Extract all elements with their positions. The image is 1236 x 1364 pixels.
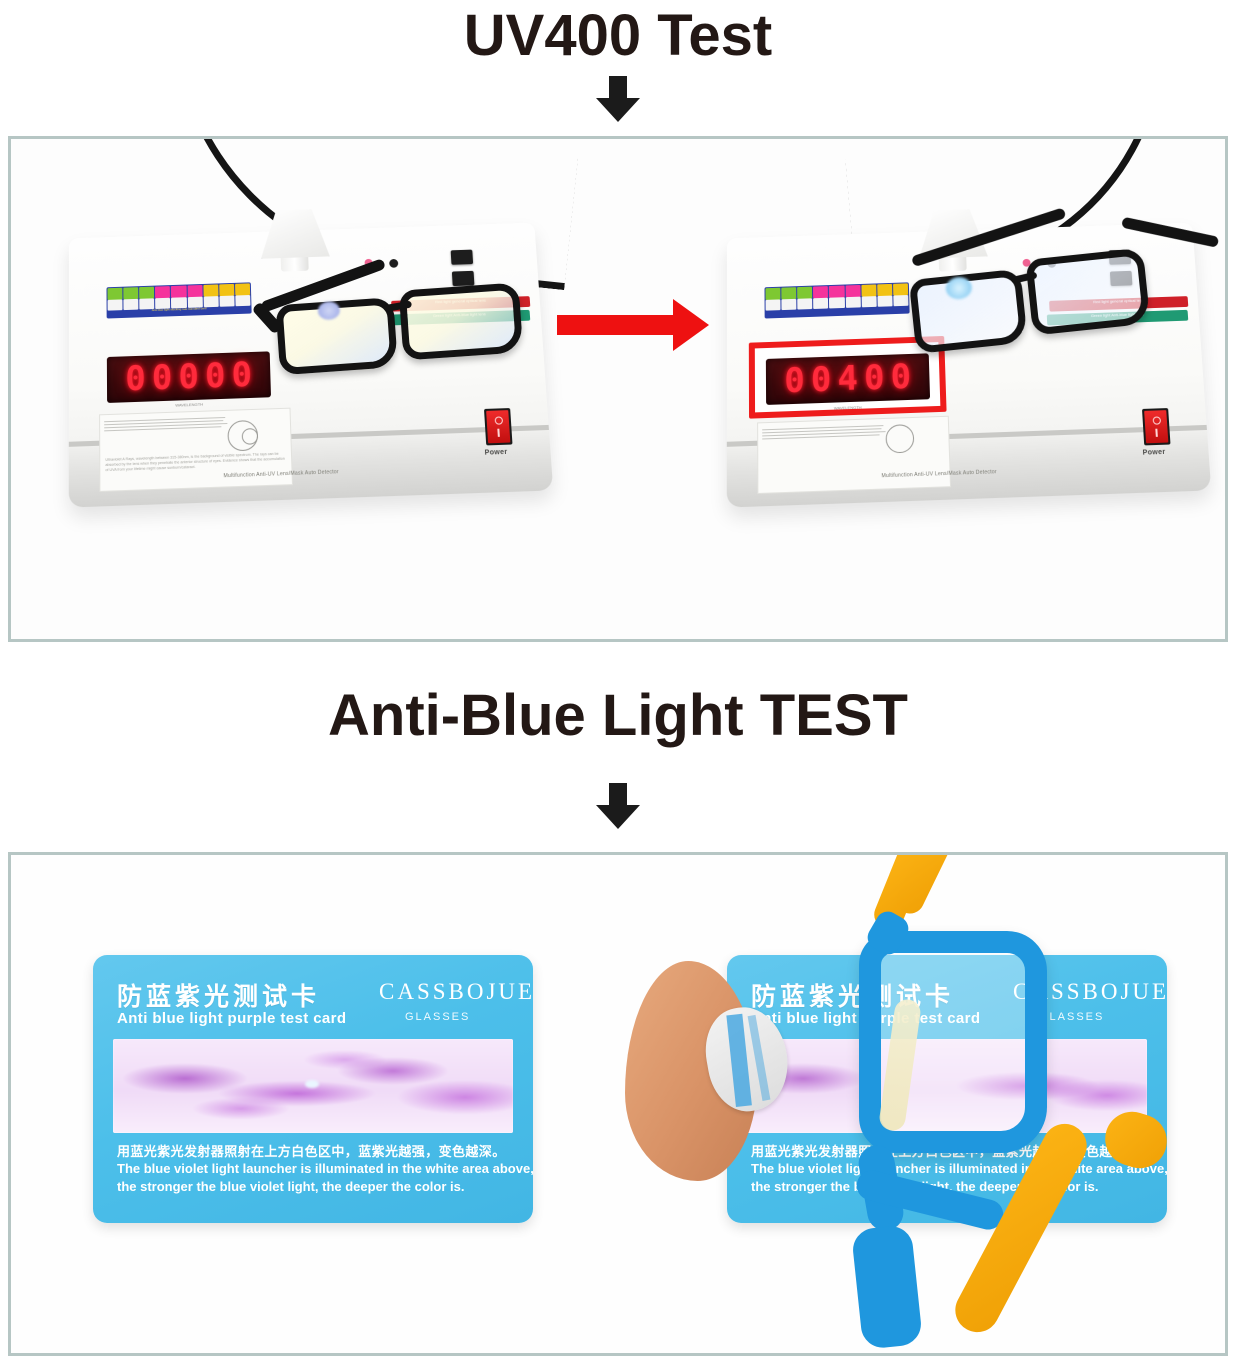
page-title-uv400: UV400 Test xyxy=(0,2,1236,69)
card-footer-cn-left: 用蓝光紫光发射器照射在上方白色区中，蓝紫光越强，变色越深。 xyxy=(117,1141,506,1160)
tape-band xyxy=(726,1014,752,1107)
card-title-cn-left: 防蓝紫光测试卡 xyxy=(117,977,320,1013)
led-digit-3: 0 xyxy=(178,360,199,395)
temple-tip-yellow xyxy=(1098,1105,1174,1176)
lens-right-eye xyxy=(399,282,524,360)
lower-rim-blue-2 xyxy=(851,1224,923,1350)
power-switch-left[interactable] xyxy=(484,408,513,445)
uv-test-scene: Anti blue light blocking rate standard c… xyxy=(11,139,1225,639)
card-footer-en1-left: The blue violet light launcher is illumi… xyxy=(117,1161,533,1176)
card-brand-left: CASSBOJUE xyxy=(379,979,533,1005)
led-digit-1: 0 xyxy=(784,364,805,399)
led-digit-5: 0 xyxy=(231,358,252,393)
led-digit-2: 0 xyxy=(811,363,832,398)
info-placard-right xyxy=(757,416,951,494)
blue-light-test-scene: 防蓝紫光测试卡 Anti blue light purple test card… xyxy=(11,855,1225,1353)
arrow-right-icon xyxy=(557,299,709,351)
mode-button-a-left[interactable] xyxy=(451,250,473,265)
test-card-left: 防蓝紫光测试卡 Anti blue light purple test card… xyxy=(93,955,533,1223)
temple-arm-right xyxy=(1121,217,1219,248)
page-title-anti-blue-light: Anti-Blue Light TEST xyxy=(0,682,1236,749)
led-digit-2: 0 xyxy=(152,361,173,396)
info-placard-left: Ultraviolet A Rays, wavelength between 3… xyxy=(99,408,293,492)
color-standard-strip-left: Anti blue light blocking rate standard c… xyxy=(106,282,251,318)
color-standard-strip-right xyxy=(764,282,909,318)
led-digit-1: 0 xyxy=(125,362,146,397)
test-area-left xyxy=(113,1039,513,1133)
anti-blue-light-test-photo: 防蓝紫光测试卡 Anti blue light purple test card… xyxy=(8,852,1228,1356)
power-label-right: Power xyxy=(1142,449,1165,457)
uv400-test-photo: Anti blue light blocking rate standard c… xyxy=(8,136,1228,642)
arrow-down-icon xyxy=(596,76,640,122)
card-title-en-left: Anti blue light purple test card xyxy=(117,1010,346,1027)
power-label-left: Power xyxy=(484,449,507,457)
led-digit-3: 4 xyxy=(837,362,858,397)
lens-right-eye xyxy=(1025,248,1150,336)
arrow-down-icon xyxy=(596,783,640,829)
led-digit-4: 0 xyxy=(205,359,226,394)
tape-band xyxy=(748,1015,771,1101)
power-switch-right[interactable] xyxy=(1142,408,1171,445)
black-eyeglasses-left xyxy=(248,259,545,389)
product-feature-image: UV400 Test xyxy=(0,0,1236,1364)
led-digit-4: 0 xyxy=(864,361,885,396)
led-display-left: 0 0 0 0 0 xyxy=(107,351,271,403)
card-footer-en2-left: the stronger the blue violet light, the … xyxy=(117,1179,464,1194)
blue-light-glasses xyxy=(849,852,1228,1356)
card-brand-sub-left: GLASSES xyxy=(405,1011,470,1023)
